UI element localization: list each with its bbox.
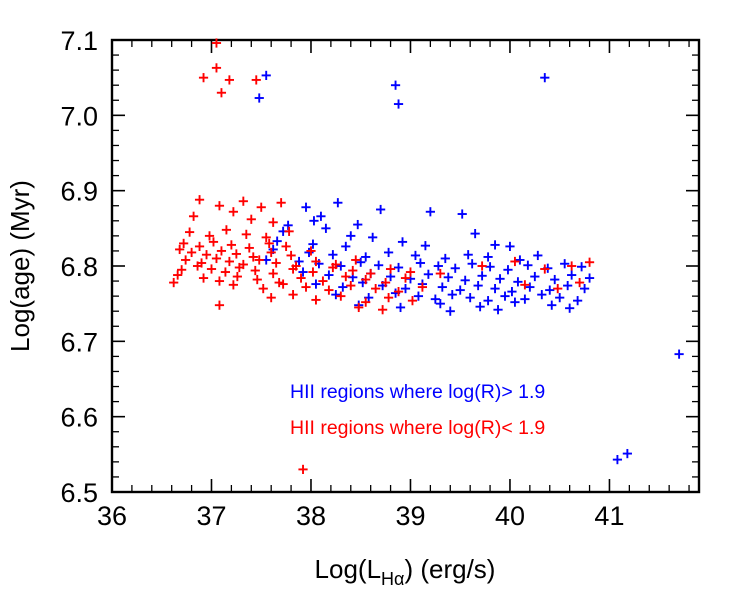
x-axis-title-pre: Log(L — [315, 554, 382, 584]
series-blue-points — [255, 71, 684, 464]
data-point-marker — [483, 252, 492, 261]
data-point-marker — [490, 240, 499, 249]
data-point-marker — [225, 75, 234, 84]
data-point-marker — [474, 281, 483, 290]
data-point-marker — [328, 250, 337, 259]
data-point-marker — [575, 278, 584, 287]
data-point-marker — [478, 261, 487, 270]
data-point-marker — [217, 88, 226, 97]
data-point-marker — [520, 295, 529, 304]
data-point-marker — [426, 207, 435, 216]
data-point-marker — [301, 282, 310, 291]
data-point-marker — [298, 465, 307, 474]
data-point-marker — [466, 293, 475, 302]
y-tick-label: 7.0 — [60, 101, 98, 131]
data-point-marker — [221, 267, 230, 276]
data-point-marker — [613, 455, 622, 464]
y-tick-label: 6.8 — [60, 252, 98, 282]
data-point-marker — [401, 273, 410, 282]
y-axis-title: Log(age) (Myr) — [5, 180, 35, 352]
x-tick-label: 36 — [97, 501, 127, 531]
series-red-points — [169, 38, 594, 474]
data-point-marker — [187, 248, 196, 257]
data-point-marker — [421, 241, 430, 250]
data-point-marker — [321, 224, 330, 233]
data-point-marker — [411, 251, 420, 260]
data-point-marker — [242, 230, 251, 239]
data-point-marker — [374, 261, 383, 270]
data-point-marker — [414, 292, 423, 301]
plot-canvas: 363738394041 6.56.66.76.86.97.07.1 Log(L… — [0, 0, 747, 598]
data-point-marker — [259, 284, 268, 293]
data-point-marker — [394, 99, 403, 108]
data-point-marker — [212, 63, 221, 72]
x-tick-label: 37 — [196, 501, 226, 531]
data-point-marker — [391, 81, 400, 90]
data-point-marker — [555, 293, 564, 302]
data-point-marker — [510, 298, 519, 307]
y-tick-label: 6.9 — [60, 177, 98, 207]
data-point-marker — [675, 350, 684, 359]
data-point-marker — [229, 280, 238, 289]
data-point-marker — [507, 287, 516, 296]
data-point-marker — [225, 257, 234, 266]
data-point-marker — [416, 258, 425, 267]
data-point-marker — [451, 264, 460, 273]
x-tick-label: 41 — [594, 501, 624, 531]
data-point-marker — [199, 273, 208, 282]
data-point-marker — [284, 227, 293, 236]
data-point-marker — [247, 215, 256, 224]
data-point-marker — [468, 259, 477, 268]
data-point-marker — [368, 233, 377, 242]
y-tick-label: 6.5 — [60, 478, 98, 508]
data-point-marker — [338, 282, 347, 291]
y-tick-label: 6.7 — [60, 327, 98, 357]
x-axis-tick-labels: 363738394041 — [97, 501, 625, 531]
data-point-marker — [311, 295, 320, 304]
data-point-marker — [476, 302, 485, 311]
data-point-marker — [505, 242, 514, 251]
y-tick-label: 6.6 — [60, 403, 98, 433]
data-point-marker — [252, 75, 261, 84]
data-point-marker — [269, 269, 278, 278]
data-point-marker — [215, 276, 224, 285]
data-point-marker — [273, 237, 282, 246]
data-point-marker — [239, 197, 248, 206]
data-point-marker — [464, 250, 473, 259]
data-point-marker — [353, 220, 362, 229]
data-point-marker — [304, 248, 313, 257]
data-point-marker — [232, 249, 241, 258]
data-point-marker — [530, 272, 539, 281]
data-point-marker — [272, 258, 281, 267]
data-point-marker — [585, 273, 594, 282]
data-point-marker — [431, 295, 440, 304]
data-point-marker — [277, 198, 286, 207]
data-point-marker — [202, 250, 211, 259]
data-point-marker — [301, 203, 310, 212]
data-point-marker — [378, 305, 387, 314]
data-point-marker — [585, 258, 594, 267]
data-point-marker — [550, 275, 559, 284]
data-point-marker — [384, 293, 393, 302]
data-point-marker — [207, 264, 216, 273]
data-point-marker — [212, 254, 221, 263]
data-point-marker — [386, 264, 395, 273]
data-point-marker — [308, 240, 317, 249]
data-point-marker — [233, 272, 242, 281]
data-point-marker — [286, 251, 295, 260]
data-point-marker — [306, 246, 315, 255]
data-point-marker — [308, 267, 317, 276]
data-point-marker — [500, 292, 509, 301]
data-point-marker — [255, 93, 264, 102]
data-point-marker — [560, 259, 569, 268]
data-point-marker — [222, 225, 231, 234]
data-point-marker — [288, 290, 297, 299]
data-point-marker — [331, 290, 340, 299]
data-point-marker — [441, 254, 450, 263]
data-point-marker — [545, 286, 554, 295]
data-point-marker — [547, 301, 556, 310]
data-point-marker — [336, 292, 345, 301]
data-point-marker — [181, 255, 190, 264]
x-axis-title-subscript: Hα — [381, 569, 404, 589]
data-point-marker — [356, 258, 365, 267]
data-point-marker — [324, 286, 333, 295]
data-point-marker — [436, 299, 445, 308]
data-point-marker — [348, 266, 357, 275]
data-point-marker — [478, 271, 487, 280]
data-point-marker — [525, 282, 534, 291]
data-point-marker — [341, 242, 350, 251]
data-point-marker — [199, 73, 208, 82]
data-point-marker — [461, 276, 470, 285]
data-point-marker — [406, 267, 415, 276]
x-axis-title: Log(LHα) (erg/s) — [315, 554, 496, 589]
data-point-marker — [540, 73, 549, 82]
data-point-marker — [424, 270, 433, 279]
data-point-marker — [396, 303, 405, 312]
data-point-marker — [495, 274, 504, 283]
x-tick-label: 39 — [395, 501, 425, 531]
data-point-marker — [537, 290, 546, 299]
data-point-marker — [336, 261, 345, 270]
data-point-marker — [408, 296, 417, 305]
data-point-marker — [471, 229, 480, 238]
data-point-marker — [282, 242, 291, 251]
data-point-marker — [438, 282, 447, 291]
data-point-marker — [227, 240, 236, 249]
data-point-marker — [257, 203, 266, 212]
data-point-marker — [253, 275, 262, 284]
data-point-marker — [229, 207, 238, 216]
data-point-marker — [298, 267, 307, 276]
data-point-marker — [316, 212, 325, 221]
data-point-marker — [573, 296, 582, 305]
x-tick-label: 38 — [296, 501, 326, 531]
data-point-marker — [195, 242, 204, 251]
data-point-marker — [398, 237, 407, 246]
data-point-marker — [351, 255, 360, 264]
data-point-marker — [458, 209, 467, 218]
data-point-marker — [580, 284, 589, 293]
data-point-marker — [577, 262, 586, 271]
data-point-marker — [366, 269, 375, 278]
data-point-marker — [510, 257, 519, 266]
data-point-marker — [341, 272, 350, 281]
data-point-marker — [567, 261, 576, 270]
legend-entry-blue: HII regions where log(R)> 1.9 — [290, 381, 545, 403]
data-point-marker — [394, 263, 403, 272]
data-point-marker — [446, 307, 455, 316]
data-point-marker — [436, 269, 445, 278]
scatter-plot-figure: 363738394041 6.56.66.76.86.97.07.1 Log(L… — [0, 0, 747, 598]
data-point-marker — [565, 304, 574, 313]
data-point-marker — [354, 303, 363, 312]
data-point-marker — [284, 221, 293, 230]
x-tick-label: 40 — [495, 501, 525, 531]
data-point-marker — [262, 71, 271, 80]
y-tick-label: 7.1 — [60, 26, 98, 56]
data-point-marker — [215, 301, 224, 310]
x-axis-title-post: ) (erg/s) — [404, 554, 495, 584]
y-axis-tick-labels: 6.56.66.76.86.97.07.1 — [60, 26, 98, 508]
data-point-marker — [296, 273, 305, 282]
data-point-marker — [215, 201, 224, 210]
data-point-marker — [448, 290, 457, 299]
data-point-marker — [361, 252, 370, 261]
data-point-marker — [251, 266, 260, 275]
data-point-marker — [309, 216, 318, 225]
data-point-marker — [563, 281, 572, 290]
data-point-marker — [384, 248, 393, 257]
data-point-marker — [493, 305, 502, 314]
data-point-marker — [195, 195, 204, 204]
data-point-marker — [333, 198, 342, 207]
data-point-marker — [269, 218, 278, 227]
data-point-marker — [434, 261, 443, 270]
data-point-marker — [185, 228, 194, 237]
data-point-marker — [217, 246, 226, 255]
data-point-marker — [483, 296, 492, 305]
data-point-marker — [245, 243, 254, 252]
data-point-marker — [503, 265, 512, 274]
data-point-marker — [189, 212, 198, 221]
data-point-marker — [376, 205, 385, 214]
legend-entry-red: HII regions where log(R)< 1.9 — [290, 417, 545, 439]
data-point-marker — [515, 255, 524, 264]
data-point-marker — [533, 251, 542, 260]
data-point-marker — [567, 270, 576, 279]
data-point-marker — [346, 281, 355, 290]
data-point-marker — [623, 449, 632, 458]
data-point-marker — [444, 273, 453, 282]
data-point-marker — [346, 231, 355, 240]
data-point-marker — [523, 261, 532, 270]
data-point-marker — [490, 284, 499, 293]
data-point-marker — [456, 286, 465, 295]
data-point-marker — [485, 262, 494, 271]
data-point-marker — [267, 293, 276, 302]
data-point-marker — [553, 284, 562, 293]
